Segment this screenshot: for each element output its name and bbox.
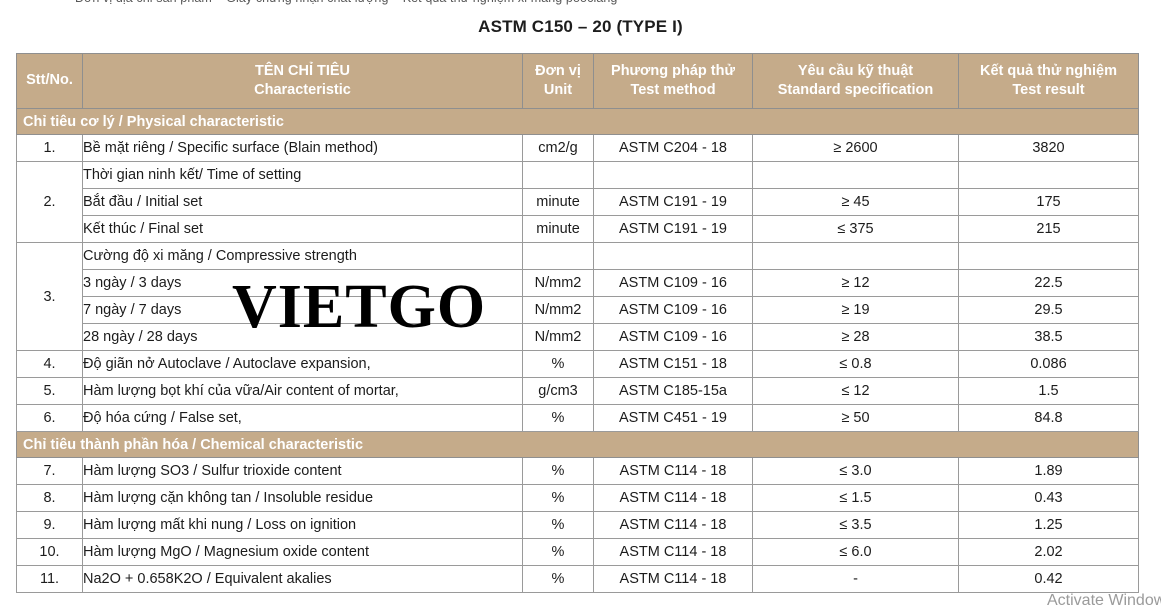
cell-unit: %	[523, 512, 594, 539]
cell-no: 10.	[17, 539, 83, 566]
cell-standard-spec: ≥ 19	[753, 297, 959, 324]
col-header-standard-spec: Yêu cầu kỹ thuật Standard specification	[753, 54, 959, 109]
cell-characteristic: Bắt đầu / Initial set	[83, 189, 523, 216]
cell-test-method	[594, 243, 753, 270]
cell-test-method: ASTM C109 - 16	[594, 270, 753, 297]
astm-results-table: Stt/No. TÊN CHỈ TIÊU Characteristic Đơn …	[16, 53, 1139, 593]
cell-test-method: ASTM C109 - 16	[594, 297, 753, 324]
cell-standard-spec: ≥ 2600	[753, 135, 959, 162]
cell-characteristic: Kết thúc / Final set	[83, 216, 523, 243]
table-header-row: Stt/No. TÊN CHỈ TIÊU Characteristic Đơn …	[17, 54, 1139, 109]
cell-test-result: 3820	[959, 135, 1139, 162]
cell-no: 2.	[17, 162, 83, 243]
cell-unit: %	[523, 539, 594, 566]
cell-standard-spec	[753, 162, 959, 189]
table-row: 3.Cường độ xi măng / Compressive strengt…	[17, 243, 1139, 270]
cell-test-method: ASTM C151 - 18	[594, 351, 753, 378]
cell-test-result: 0.086	[959, 351, 1139, 378]
cell-characteristic: Hàm lượng MgO / Magnesium oxide content	[83, 539, 523, 566]
section-banner-label: Chỉ tiêu cơ lý / Physical characteristic	[17, 109, 1139, 135]
cell-no: 1.	[17, 135, 83, 162]
cell-standard-spec: -	[753, 566, 959, 593]
table-row: 8.Hàm lượng cặn không tan / Insoluble re…	[17, 485, 1139, 512]
cell-test-method: ASTM C114 - 18	[594, 566, 753, 593]
cell-characteristic: Hàm lượng SO3 / Sulfur trioxide content	[83, 458, 523, 485]
cell-unit: %	[523, 566, 594, 593]
cell-test-method: ASTM C109 - 16	[594, 324, 753, 351]
cell-test-method: ASTM C191 - 19	[594, 216, 753, 243]
table-row: 2.Thời gian ninh kết/ Time of setting	[17, 162, 1139, 189]
table-row: 4.Độ giãn nở Autoclave / Autoclave expan…	[17, 351, 1139, 378]
col-header-test-result: Kết quả thử nghiệm Test result	[959, 54, 1139, 109]
cell-characteristic: 28 ngày / 28 days	[83, 324, 523, 351]
col-header-test-result-vi: Kết quả thử nghiệm	[980, 63, 1117, 79]
cell-standard-spec: ≤ 1.5	[753, 485, 959, 512]
cell-standard-spec: ≥ 45	[753, 189, 959, 216]
cell-test-result: 84.8	[959, 405, 1139, 432]
col-header-unit-en: Unit	[526, 81, 590, 100]
cell-characteristic: Hàm lượng mất khi nung / Loss on ignitio…	[83, 512, 523, 539]
cell-test-method: ASTM C204 - 18	[594, 135, 753, 162]
col-header-standard-spec-en: Standard specification	[756, 81, 955, 100]
section-banner-label: Chỉ tiêu thành phần hóa / Chemical chara…	[17, 432, 1139, 458]
col-header-unit: Đơn vị Unit	[523, 54, 594, 109]
cell-no: 8.	[17, 485, 83, 512]
cell-test-method: ASTM C114 - 18	[594, 512, 753, 539]
cell-standard-spec: ≤ 0.8	[753, 351, 959, 378]
cell-no: 9.	[17, 512, 83, 539]
cell-no: 5.	[17, 378, 83, 405]
cell-standard-spec: ≥ 50	[753, 405, 959, 432]
cell-test-method: ASTM C185-15a	[594, 378, 753, 405]
page-title: ASTM C150 – 20 (TYPE I)	[0, 17, 1161, 37]
cell-test-result: 1.5	[959, 378, 1139, 405]
col-header-characteristic: TÊN CHỈ TIÊU Characteristic	[83, 54, 523, 109]
col-header-test-method: Phương pháp thử Test method	[594, 54, 753, 109]
cell-standard-spec: ≥ 28	[753, 324, 959, 351]
windows-activation-watermark: Activate Windows	[1047, 592, 1161, 610]
cell-unit: N/mm2	[523, 324, 594, 351]
cell-test-result: 1.25	[959, 512, 1139, 539]
col-header-characteristic-en: Characteristic	[86, 81, 519, 100]
cell-characteristic: Độ giãn nở Autoclave / Autoclave expansi…	[83, 351, 523, 378]
cell-unit	[523, 162, 594, 189]
cell-no: 4.	[17, 351, 83, 378]
cell-unit	[523, 243, 594, 270]
table-row: 7 ngày / 7 daysN/mm2ASTM C109 - 16≥ 1929…	[17, 297, 1139, 324]
cell-test-result: 175	[959, 189, 1139, 216]
cell-test-method: ASTM C451 - 19	[594, 405, 753, 432]
table-row: Kết thúc / Final setminuteASTM C191 - 19…	[17, 216, 1139, 243]
table-row: 3 ngày / 3 daysN/mm2ASTM C109 - 16≥ 1222…	[17, 270, 1139, 297]
cell-standard-spec: ≤ 375	[753, 216, 959, 243]
cell-standard-spec: ≤ 6.0	[753, 539, 959, 566]
cell-test-method: ASTM C114 - 18	[594, 485, 753, 512]
table-row: 1.Bề mặt riêng / Specific surface (Blain…	[17, 135, 1139, 162]
table-row: Bắt đầu / Initial setminuteASTM C191 - 1…	[17, 189, 1139, 216]
cell-unit: %	[523, 458, 594, 485]
table-row: 28 ngày / 28 daysN/mm2ASTM C109 - 16≥ 28…	[17, 324, 1139, 351]
cell-unit: cm2/g	[523, 135, 594, 162]
table-body: Chỉ tiêu cơ lý / Physical characteristic…	[17, 109, 1139, 593]
cell-test-result: 215	[959, 216, 1139, 243]
cell-test-method: ASTM C191 - 19	[594, 189, 753, 216]
cell-unit: %	[523, 351, 594, 378]
cell-unit: minute	[523, 216, 594, 243]
cell-unit: N/mm2	[523, 297, 594, 324]
document-page: Đơn vị địa chỉ sản phẩm – Giấy chứng nhậ…	[0, 0, 1161, 610]
table-row: 11.Na2O + 0.658K2O / Equivalent akalies%…	[17, 566, 1139, 593]
cell-standard-spec: ≥ 12	[753, 270, 959, 297]
cell-test-result: 22.5	[959, 270, 1139, 297]
section-banner-row: Chỉ tiêu cơ lý / Physical characteristic	[17, 109, 1139, 135]
col-header-no: Stt/No.	[17, 54, 83, 109]
cell-test-result: 0.43	[959, 485, 1139, 512]
cell-unit: minute	[523, 189, 594, 216]
cell-test-result	[959, 162, 1139, 189]
cell-unit: %	[523, 485, 594, 512]
col-header-unit-vi: Đơn vị	[535, 63, 581, 79]
col-header-no-vi: Stt/No.	[26, 72, 73, 88]
cell-no: 3.	[17, 243, 83, 351]
cell-characteristic: Hàm lượng cặn không tan / Insoluble resi…	[83, 485, 523, 512]
cell-standard-spec: ≤ 3.0	[753, 458, 959, 485]
cell-test-result: 38.5	[959, 324, 1139, 351]
table-header: Stt/No. TÊN CHỈ TIÊU Characteristic Đơn …	[17, 54, 1139, 109]
cell-standard-spec: ≤ 3.5	[753, 512, 959, 539]
table-row: 6.Độ hóa cứng / False set,%ASTM C451 - 1…	[17, 405, 1139, 432]
cell-standard-spec: ≤ 12	[753, 378, 959, 405]
cell-test-method: ASTM C114 - 18	[594, 458, 753, 485]
cell-no: 6.	[17, 405, 83, 432]
cell-characteristic: Na2O + 0.658K2O / Equivalent akalies	[83, 566, 523, 593]
cell-standard-spec	[753, 243, 959, 270]
cell-unit: %	[523, 405, 594, 432]
cell-test-result	[959, 243, 1139, 270]
cell-no: 11.	[17, 566, 83, 593]
col-header-test-method-vi: Phương pháp thử	[611, 63, 735, 79]
cell-characteristic: Hàm lượng bọt khí của vữa/Air content of…	[83, 378, 523, 405]
cell-no: 7.	[17, 458, 83, 485]
col-header-standard-spec-vi: Yêu cầu kỹ thuật	[798, 63, 913, 79]
cell-unit: g/cm3	[523, 378, 594, 405]
cell-characteristic: Độ hóa cứng / False set,	[83, 405, 523, 432]
cell-characteristic: 3 ngày / 3 days	[83, 270, 523, 297]
cell-characteristic: Bề mặt riêng / Specific surface (Blain m…	[83, 135, 523, 162]
col-header-test-result-en: Test result	[962, 81, 1135, 100]
cell-test-result: 29.5	[959, 297, 1139, 324]
table-row: 7.Hàm lượng SO3 / Sulfur trioxide conten…	[17, 458, 1139, 485]
astm-results-table-wrapper: Stt/No. TÊN CHỈ TIÊU Characteristic Đơn …	[16, 53, 1138, 593]
col-header-test-method-en: Test method	[597, 81, 749, 100]
cell-test-result: 2.02	[959, 539, 1139, 566]
cell-test-method: ASTM C114 - 18	[594, 539, 753, 566]
cell-unit: N/mm2	[523, 270, 594, 297]
cell-test-method	[594, 162, 753, 189]
section-banner-row: Chỉ tiêu thành phần hóa / Chemical chara…	[17, 432, 1139, 458]
table-row: 10.Hàm lượng MgO / Magnesium oxide conte…	[17, 539, 1139, 566]
table-row: 9.Hàm lượng mất khi nung / Loss on ignit…	[17, 512, 1139, 539]
cell-characteristic: Cường độ xi măng / Compressive strength	[83, 243, 523, 270]
cell-test-result: 0.42	[959, 566, 1139, 593]
cell-test-result: 1.89	[959, 458, 1139, 485]
cut-off-header-text: Đơn vị địa chỉ sản phẩm – Giấy chứng nhậ…	[75, 0, 1085, 5]
cell-characteristic: 7 ngày / 7 days	[83, 297, 523, 324]
col-header-characteristic-vi: TÊN CHỈ TIÊU	[255, 63, 350, 79]
table-row: 5.Hàm lượng bọt khí của vữa/Air content …	[17, 378, 1139, 405]
cell-characteristic: Thời gian ninh kết/ Time of setting	[83, 162, 523, 189]
